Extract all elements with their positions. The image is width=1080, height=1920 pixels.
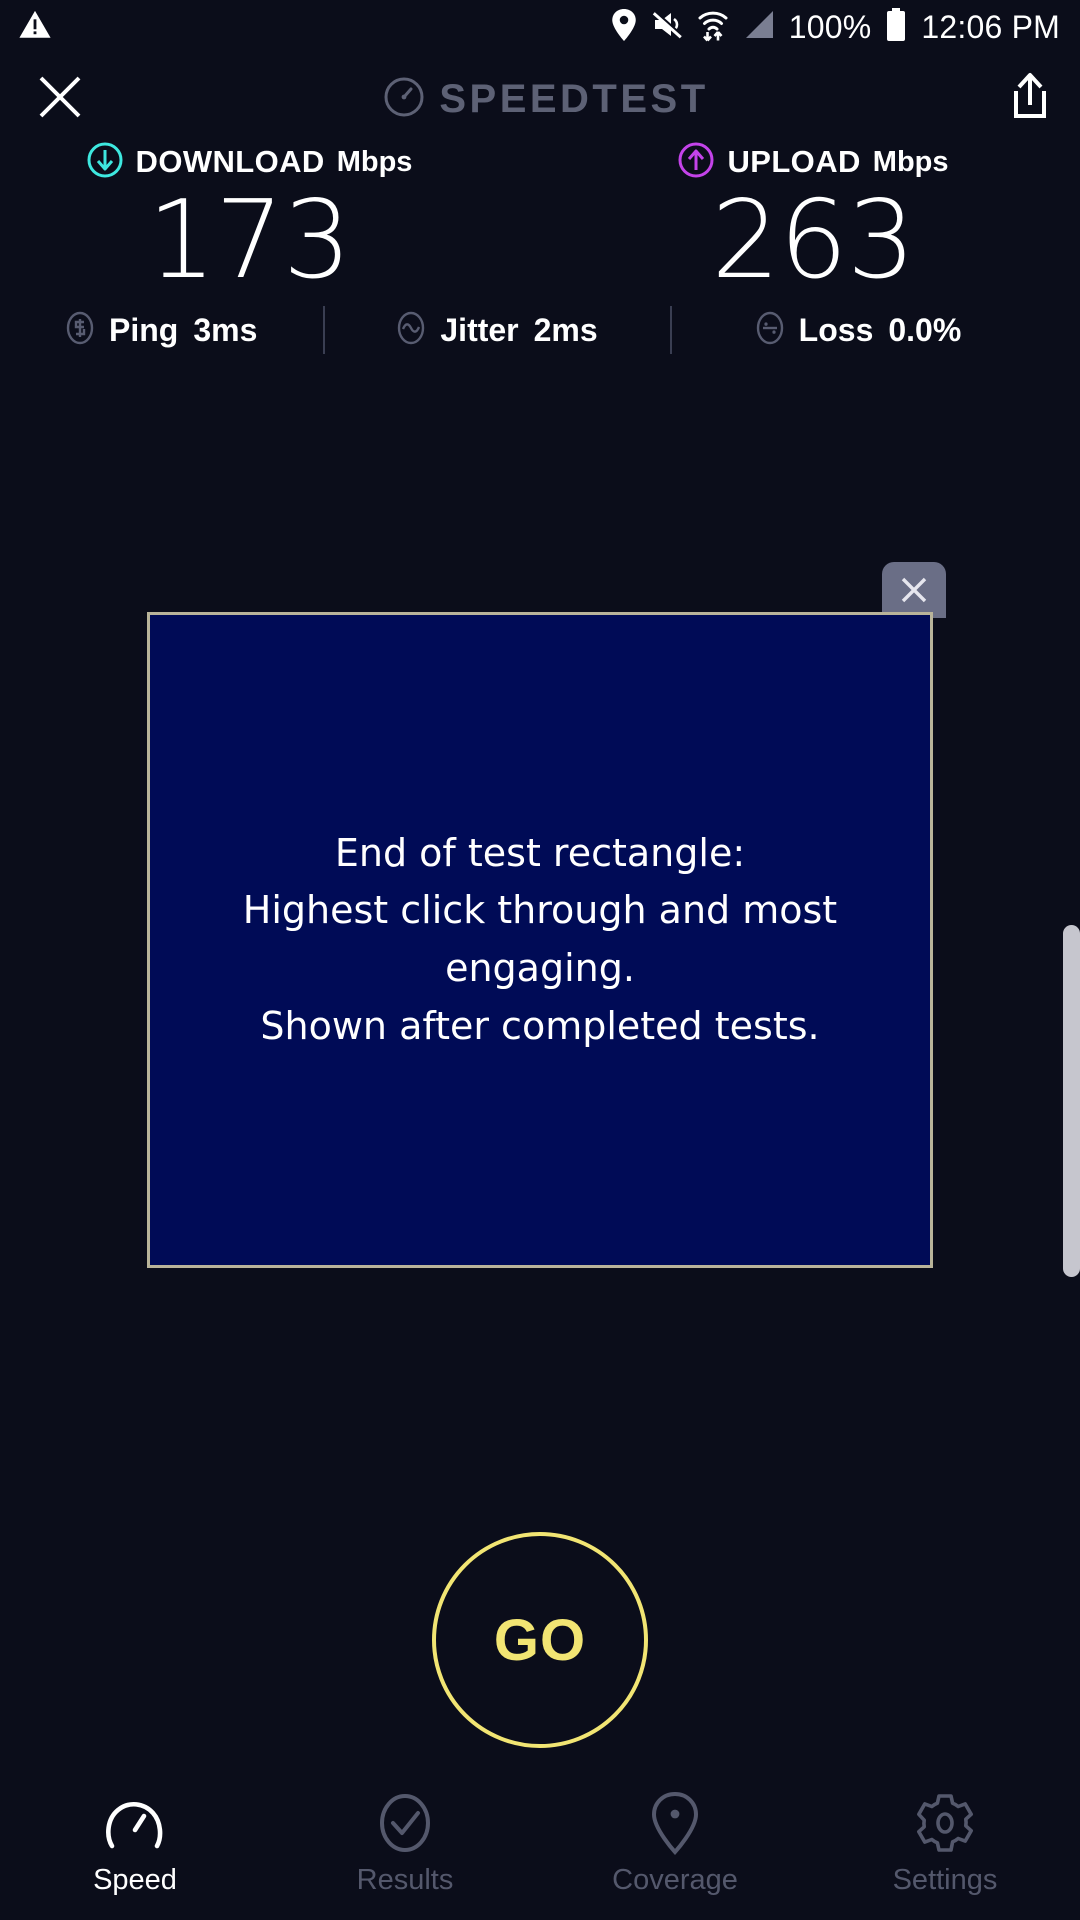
nav-item-speed[interactable]: Speed bbox=[0, 1780, 270, 1920]
battery-percent-label: 100% bbox=[789, 9, 872, 46]
ping-metric: Ping 3ms bbox=[62, 310, 257, 351]
speedometer-icon bbox=[104, 1792, 166, 1854]
advertisement-banner[interactable]: End of test rectangle:Highest click thro… bbox=[147, 612, 933, 1268]
results-panel: DOWNLOAD Mbps 173 UPLOAD Mbps bbox=[0, 140, 1080, 298]
loss-metric: Loss 0.0% bbox=[752, 310, 962, 351]
download-label: DOWNLOAD bbox=[136, 144, 325, 180]
jitter-icon bbox=[393, 310, 429, 351]
go-button-label: GO bbox=[494, 1607, 586, 1674]
share-icon[interactable] bbox=[1006, 71, 1054, 128]
network-quality-row: Ping 3ms Jitter 2ms bbox=[0, 300, 1080, 360]
gear-icon bbox=[914, 1792, 976, 1854]
ad-close-icon bbox=[897, 573, 931, 607]
nav-item-results[interactable]: Results bbox=[270, 1780, 540, 1920]
ad-close-button[interactable] bbox=[882, 562, 946, 618]
wifi-transfer-icon bbox=[697, 8, 729, 47]
nav-label-results: Results bbox=[357, 1864, 454, 1897]
ad-text: End of test rectangle:Highest click thro… bbox=[150, 825, 930, 1056]
warning-triangle-icon bbox=[18, 8, 52, 47]
page-title: SPEEDTEST bbox=[439, 77, 708, 122]
status-bar-right: 100% 12:06 PM bbox=[611, 8, 1060, 47]
upload-value: 263 bbox=[711, 184, 914, 298]
brand-logo: SPEEDTEST bbox=[383, 76, 708, 123]
speedtest-gauge-icon bbox=[383, 76, 425, 123]
page-scrollbar-thumb[interactable] bbox=[1063, 925, 1080, 1277]
nav-item-coverage[interactable]: Coverage bbox=[540, 1780, 810, 1920]
battery-full-icon bbox=[885, 8, 907, 47]
status-bar: 100% 12:06 PM bbox=[0, 0, 1080, 54]
nav-label-speed: Speed bbox=[93, 1864, 177, 1897]
upload-arrow-icon bbox=[677, 141, 715, 184]
jitter-value: 2ms bbox=[534, 312, 598, 349]
status-bar-left bbox=[18, 8, 52, 47]
loss-icon bbox=[752, 310, 788, 351]
nav-item-settings[interactable]: Settings bbox=[810, 1780, 1080, 1920]
loss-label: Loss bbox=[799, 312, 874, 349]
close-icon[interactable] bbox=[34, 71, 86, 128]
ping-label: Ping bbox=[109, 312, 178, 349]
go-button[interactable]: GO bbox=[432, 1532, 648, 1748]
ping-value: 3ms bbox=[193, 312, 257, 349]
nav-label-coverage: Coverage bbox=[612, 1864, 738, 1897]
upload-label: UPLOAD bbox=[727, 144, 860, 180]
speedtest-app-screen: 100% 12:06 PM bbox=[0, 0, 1080, 1920]
clock-label: 12:06 PM bbox=[921, 9, 1060, 46]
app-header: SPEEDTEST bbox=[0, 58, 1080, 140]
download-unit: Mbps bbox=[337, 146, 413, 179]
upload-metric: UPLOAD Mbps 263 bbox=[540, 140, 1080, 298]
divider bbox=[670, 306, 672, 354]
upload-unit: Mbps bbox=[873, 146, 949, 179]
check-circle-icon bbox=[374, 1792, 436, 1854]
bell-muted-icon bbox=[651, 10, 683, 45]
location-pin-icon bbox=[611, 9, 637, 46]
divider bbox=[323, 306, 325, 354]
download-metric: DOWNLOAD Mbps 173 bbox=[0, 140, 540, 298]
download-arrow-icon bbox=[86, 141, 124, 184]
speed-metrics-row: DOWNLOAD Mbps 173 UPLOAD Mbps bbox=[0, 140, 1080, 298]
jitter-metric: Jitter 2ms bbox=[393, 310, 597, 351]
nav-label-settings: Settings bbox=[893, 1864, 998, 1897]
bottom-navigation: Speed Results Coverage bbox=[0, 1780, 1080, 1920]
ping-icon bbox=[62, 310, 98, 351]
jitter-label: Jitter bbox=[440, 312, 518, 349]
cell-signal-icon bbox=[743, 10, 775, 45]
loss-value: 0.0% bbox=[888, 312, 961, 349]
map-pin-icon bbox=[649, 1792, 701, 1854]
download-value: 173 bbox=[147, 184, 350, 298]
